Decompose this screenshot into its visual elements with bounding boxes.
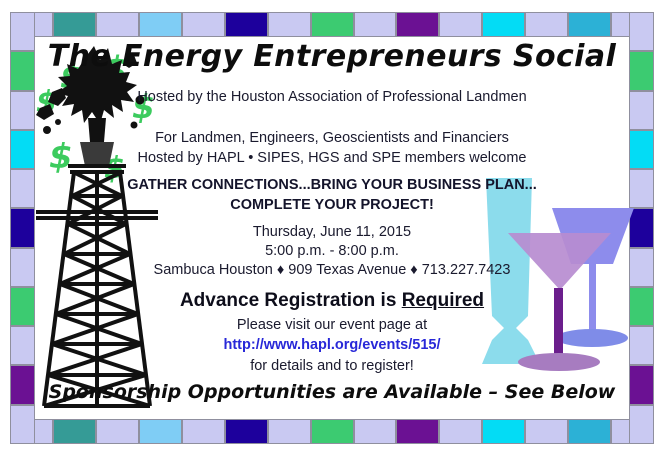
frame-swatch-navy [225,12,268,37]
frame-swatch-navy [225,419,268,444]
event-url-link[interactable]: http://www.hapl.org/events/515/ [35,337,629,353]
registration-heading: Advance Registration is Required [35,290,629,312]
frame-swatch-teal [53,419,96,444]
flyer-canvas: $ $ $ $ $ $ [0,0,664,456]
frame-swatch-lavender [525,419,568,444]
frame-swatch-lavender [268,419,311,444]
frame-swatch-lavender [629,12,654,51]
flyer-text-content: The Energy Entrepreneurs Social Hosted b… [35,37,629,419]
visit-instruction: Please visit our event page at [35,317,629,333]
event-date: Thursday, June 11, 2015 [35,223,629,242]
frame-swatch-lavender [629,405,654,444]
frame-swatch-teal_blue [568,12,611,37]
sponsorship-note: Sponsorship Opportunities are Available … [35,381,629,403]
frame-swatch-cyan [482,419,525,444]
frame-swatch-sky_blue [139,419,182,444]
frame-swatch-lavender [182,419,225,444]
event-venue: Sambuca Houston ♦ 909 Texas Avenue ♦ 713… [35,261,629,280]
host-subtitle: Hosted by the Houston Association of Pro… [35,89,629,105]
frame-swatch-green [311,419,354,444]
frame-swatch-green [311,12,354,37]
frame-swatch-purple [396,419,439,444]
frame-swatch-lavender [354,12,397,37]
frame-swatch-lavender [96,419,139,444]
details-instruction: for details and to register! [35,358,629,374]
event-details-block: Thursday, June 11, 2015 5:00 p.m. - 8:00… [35,223,629,280]
frame-swatch-lavender [439,419,482,444]
frame-swatch-green [629,51,654,90]
frame-swatch-lavender [182,12,225,37]
audience-block: For Landmen, Engineers, Geoscientists an… [35,128,629,168]
frame-swatch-lavender [525,12,568,37]
event-time: 5:00 p.m. - 8:00 p.m. [35,242,629,261]
slogan-line-2: COMPLETE YOUR PROJECT! [35,195,629,215]
frame-swatch-teal_blue [568,419,611,444]
page-title: The Energy Entrepreneurs Social [35,39,629,74]
frame-swatch-lavender [354,419,397,444]
frame-bottom-band [10,419,654,444]
slogan-line-1: GATHER CONNECTIONS...BRING YOUR BUSINESS… [35,175,629,195]
frame-swatch-cyan [482,12,525,37]
slogan-block: GATHER CONNECTIONS...BRING YOUR BUSINESS… [35,175,629,215]
registration-heading-prefix: Advance Registration is [180,290,402,311]
frame-swatch-lavender [629,91,654,130]
registration-required-underline: Required [402,290,484,311]
audience-line-2: Hosted by HAPL • SIPES, HGS and SPE memb… [35,148,629,168]
frame-swatch-lavender [268,12,311,37]
frame-swatch-purple [396,12,439,37]
frame-swatch-cyan [629,130,654,169]
frame-swatch-lavender [439,12,482,37]
audience-line-1: For Landmen, Engineers, Geoscientists an… [35,128,629,148]
